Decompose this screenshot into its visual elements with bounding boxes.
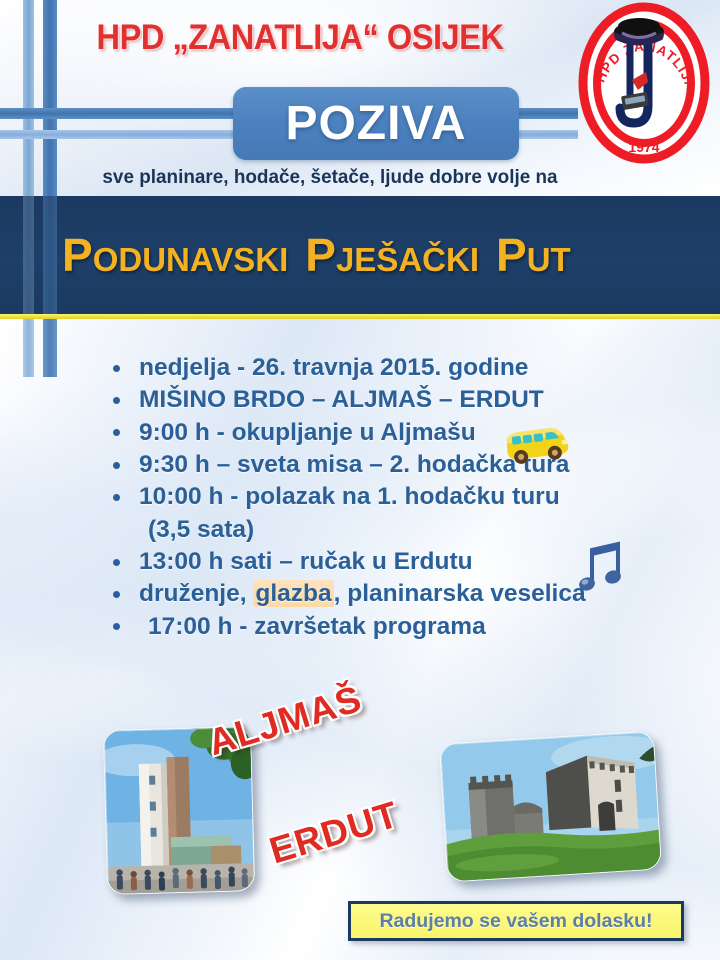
list-item-label: nedjelja - 26. travnja 2015. godine bbox=[139, 354, 528, 381]
list-item-label: (3,5 sata) bbox=[148, 516, 254, 543]
highlighted-word: glazba bbox=[253, 580, 333, 607]
list-item: 10:00 h - polazak na 1. hodačku turu bbox=[108, 481, 708, 513]
program-list: nedjelja - 26. travnja 2015. godine MIŠI… bbox=[108, 352, 708, 643]
list-item: 9:00 h - okupljanje u Aljmašu bbox=[108, 417, 708, 449]
welcome-message-text: Radujemo se vašem dolasku! bbox=[379, 910, 652, 933]
list-item: nedjelja - 26. travnja 2015. godine bbox=[108, 352, 708, 384]
page-title: PODUNAVSKI PJEŠAČKI PUT bbox=[62, 196, 702, 314]
poziva-label: POZIVA bbox=[233, 87, 519, 160]
poster-canvas: HPD „ZANATLIJA“ OSIJEK POZIVA sve planin… bbox=[0, 0, 720, 960]
photo-erdut bbox=[439, 731, 662, 883]
invitation-subtitle: sve planinare, hodače, šetače, ljude dob… bbox=[10, 166, 650, 189]
list-item-label-post: , planinarska veselica bbox=[334, 580, 586, 607]
yellow-divider bbox=[0, 314, 720, 319]
list-item-label: 10:00 h - polazak na 1. hodačku turu bbox=[139, 483, 560, 510]
list-item: 17:00 h - završetak programa bbox=[108, 611, 708, 643]
bus-icon bbox=[500, 425, 572, 469]
bullet-dot bbox=[113, 397, 120, 404]
list-item-label: 9:00 h - okupljanje u Aljmašu bbox=[139, 419, 476, 446]
svg-text:1974: 1974 bbox=[628, 139, 659, 155]
bullet-dot bbox=[113, 429, 120, 436]
list-item-label-pre: druženje, bbox=[139, 580, 253, 607]
bullet-dot bbox=[113, 591, 120, 598]
list-item-label: MIŠINO BRDO – ALJMAŠ – ERDUT bbox=[139, 386, 544, 413]
decor-vertical-line-light-body bbox=[23, 319, 34, 377]
music-note-icon bbox=[574, 538, 630, 594]
title-word-1: PODUNAVSKI bbox=[62, 228, 288, 282]
bullet-dot bbox=[113, 462, 120, 469]
decor-vertical-line-dark-banner bbox=[43, 196, 57, 314]
poziva-badge: POZIVA bbox=[233, 87, 519, 160]
decor-vertical-line-dark-body bbox=[43, 319, 57, 377]
list-item-label: 17:00 h - završetak programa bbox=[148, 613, 486, 640]
club-title: HPD „ZANATLIJA“ OSIJEK bbox=[21, 18, 579, 58]
title-word-2: PJEŠAČKI bbox=[305, 228, 479, 282]
list-item: 9:30 h – sveta misa – 2. hodačka tura bbox=[108, 449, 708, 481]
list-item-label: 13:00 h sati – ručak u Erdutu bbox=[139, 548, 473, 575]
bullet-dot bbox=[113, 365, 120, 372]
bullet-dot bbox=[113, 494, 120, 501]
list-item: MIŠINO BRDO – ALJMAŠ – ERDUT bbox=[108, 384, 708, 416]
welcome-message-box: Radujemo se vašem dolasku! bbox=[348, 901, 684, 941]
title-word-3: PUT bbox=[496, 228, 571, 282]
bullet-dot bbox=[113, 559, 120, 566]
club-emblem-icon: HPD ZANATLIJA OSIJEK 1974 bbox=[578, 2, 710, 164]
decor-vertical-line-light-banner bbox=[23, 196, 34, 314]
bullet-dot bbox=[113, 623, 120, 630]
